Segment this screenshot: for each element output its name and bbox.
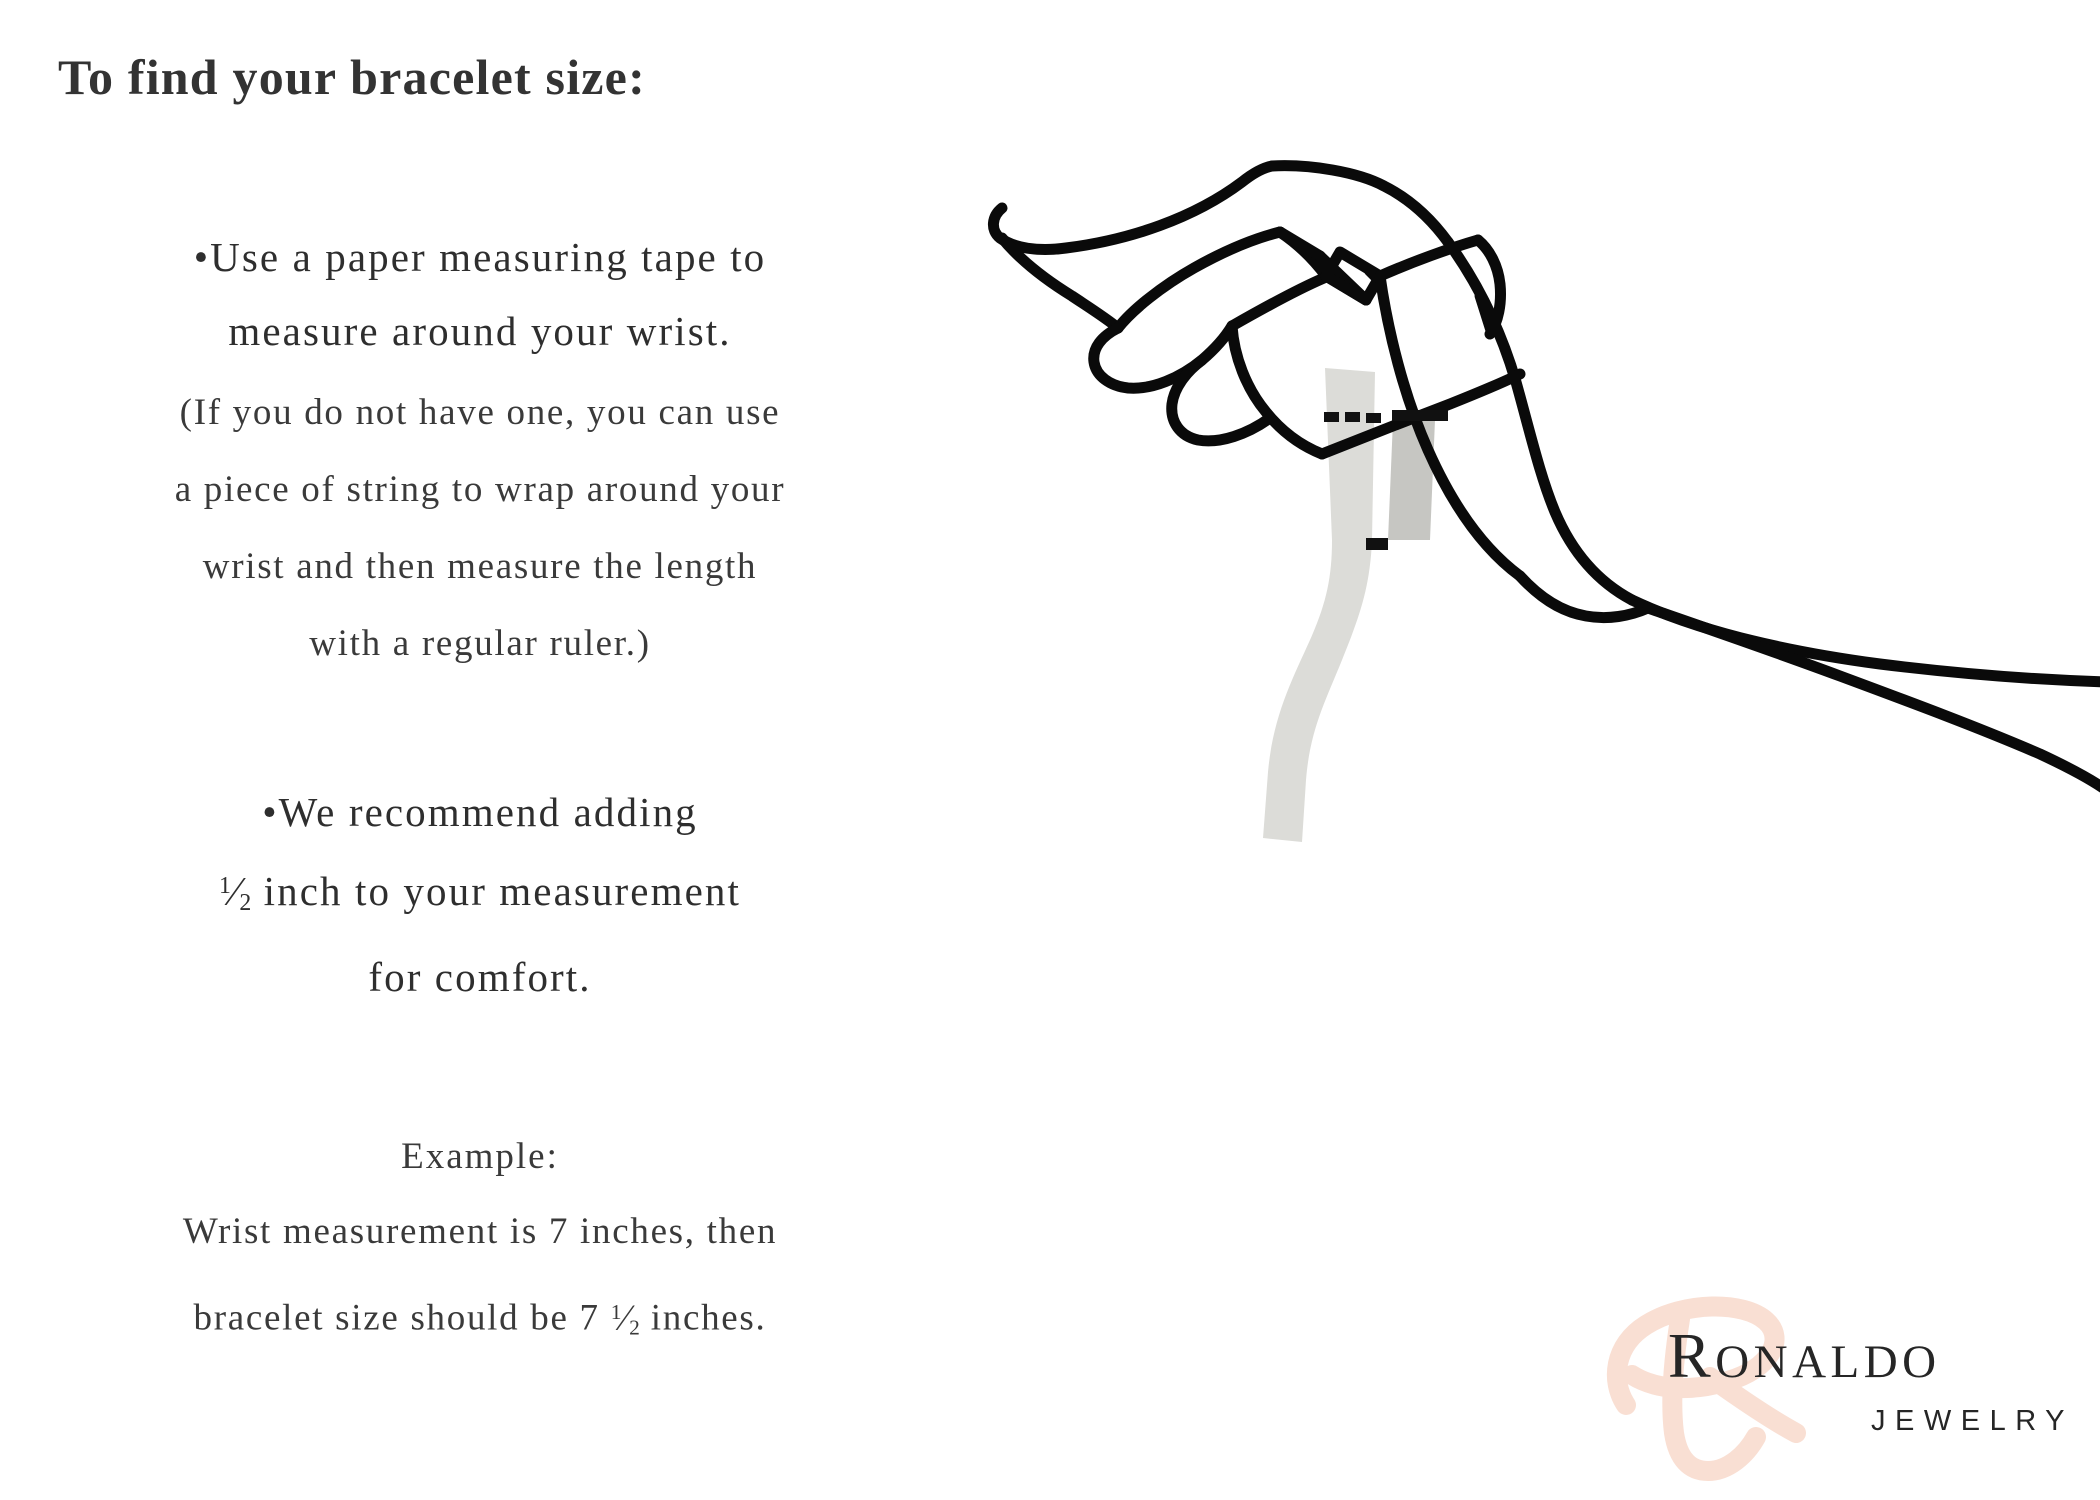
- example-line-2-suffix: inches.: [640, 1298, 767, 1339]
- example-block: Example: Wrist measurement is 7 inches, …: [0, 1122, 960, 1367]
- tape-tick-2: [1345, 412, 1360, 422]
- example-fraction-denominator: 2: [629, 1315, 640, 1339]
- parenthetical-line-2: a piece of string to wrap around your: [0, 451, 960, 528]
- ronaldo-jewelry-logo: RONALDO JEWELRY: [1588, 1285, 2078, 1485]
- parenthetical-line-4: with a regular ruler.): [0, 605, 960, 682]
- tape-tick-1: [1324, 412, 1339, 422]
- tape-end-bar-bottom: [1366, 538, 1388, 550]
- example-label: Example:: [0, 1122, 960, 1192]
- logo-wordmark: RONALDO JEWELRY: [1668, 1323, 2078, 1438]
- bullet-two-line-2: 1⁄2 inch to your measurement: [0, 849, 960, 940]
- parenthetical-line-3: wrist and then measure the length: [0, 528, 960, 605]
- logo-brand-name: RONALDO: [1668, 1323, 2078, 1395]
- hand-outline: [993, 166, 2100, 790]
- fraction-denominator: 2: [239, 890, 251, 916]
- bullet-two-line-1: •We recommend adding: [0, 775, 960, 849]
- tape-tick-3: [1366, 413, 1381, 423]
- parenthetical-block: (If you do not have one, you can use a p…: [0, 374, 960, 682]
- bullet-one-block: •Use a paper measuring tape to measure a…: [0, 220, 960, 368]
- bullet-one-line-2: measure around your wrist.: [0, 294, 960, 368]
- tape-end-bar-top: [1392, 410, 1448, 421]
- instructions-column: To find your bracelet size: •Use a paper…: [0, 0, 960, 1500]
- hand-illustration: [980, 120, 2100, 880]
- bullet-two-block: •We recommend adding 1⁄2 inch to your me…: [0, 775, 960, 1014]
- bullet-two-line-3: for comfort.: [0, 940, 960, 1014]
- logo-brand-rest: ONALDO: [1715, 1336, 1940, 1388]
- bullet-one-line-1: •Use a paper measuring tape to: [0, 220, 960, 294]
- fraction-numerator: 1: [219, 873, 231, 899]
- example-half-fraction: 1⁄2: [611, 1272, 640, 1367]
- example-fraction-numerator: 1: [611, 1300, 622, 1324]
- example-line-2-prefix: bracelet size should be 7: [194, 1298, 611, 1339]
- logo-sub-name: JEWELRY: [1668, 1405, 2078, 1438]
- bullet-two-line-2-suffix: inch to your measurement: [251, 868, 741, 914]
- bracelet-size-guide-page: To find your bracelet size: •Use a paper…: [0, 0, 2100, 1500]
- half-inch-fraction: 1⁄2: [219, 849, 251, 940]
- logo-brand-first-letter: R: [1668, 1320, 1715, 1391]
- example-line-2: bracelet size should be 7 1⁄2 inches.: [0, 1272, 960, 1367]
- example-fraction-solidus: ⁄: [621, 1298, 629, 1339]
- example-line-1: Wrist measurement is 7 inches, then: [0, 1192, 960, 1272]
- parenthetical-line-1: (If you do not have one, you can use: [0, 374, 960, 451]
- page-title: To find your bracelet size:: [58, 48, 646, 106]
